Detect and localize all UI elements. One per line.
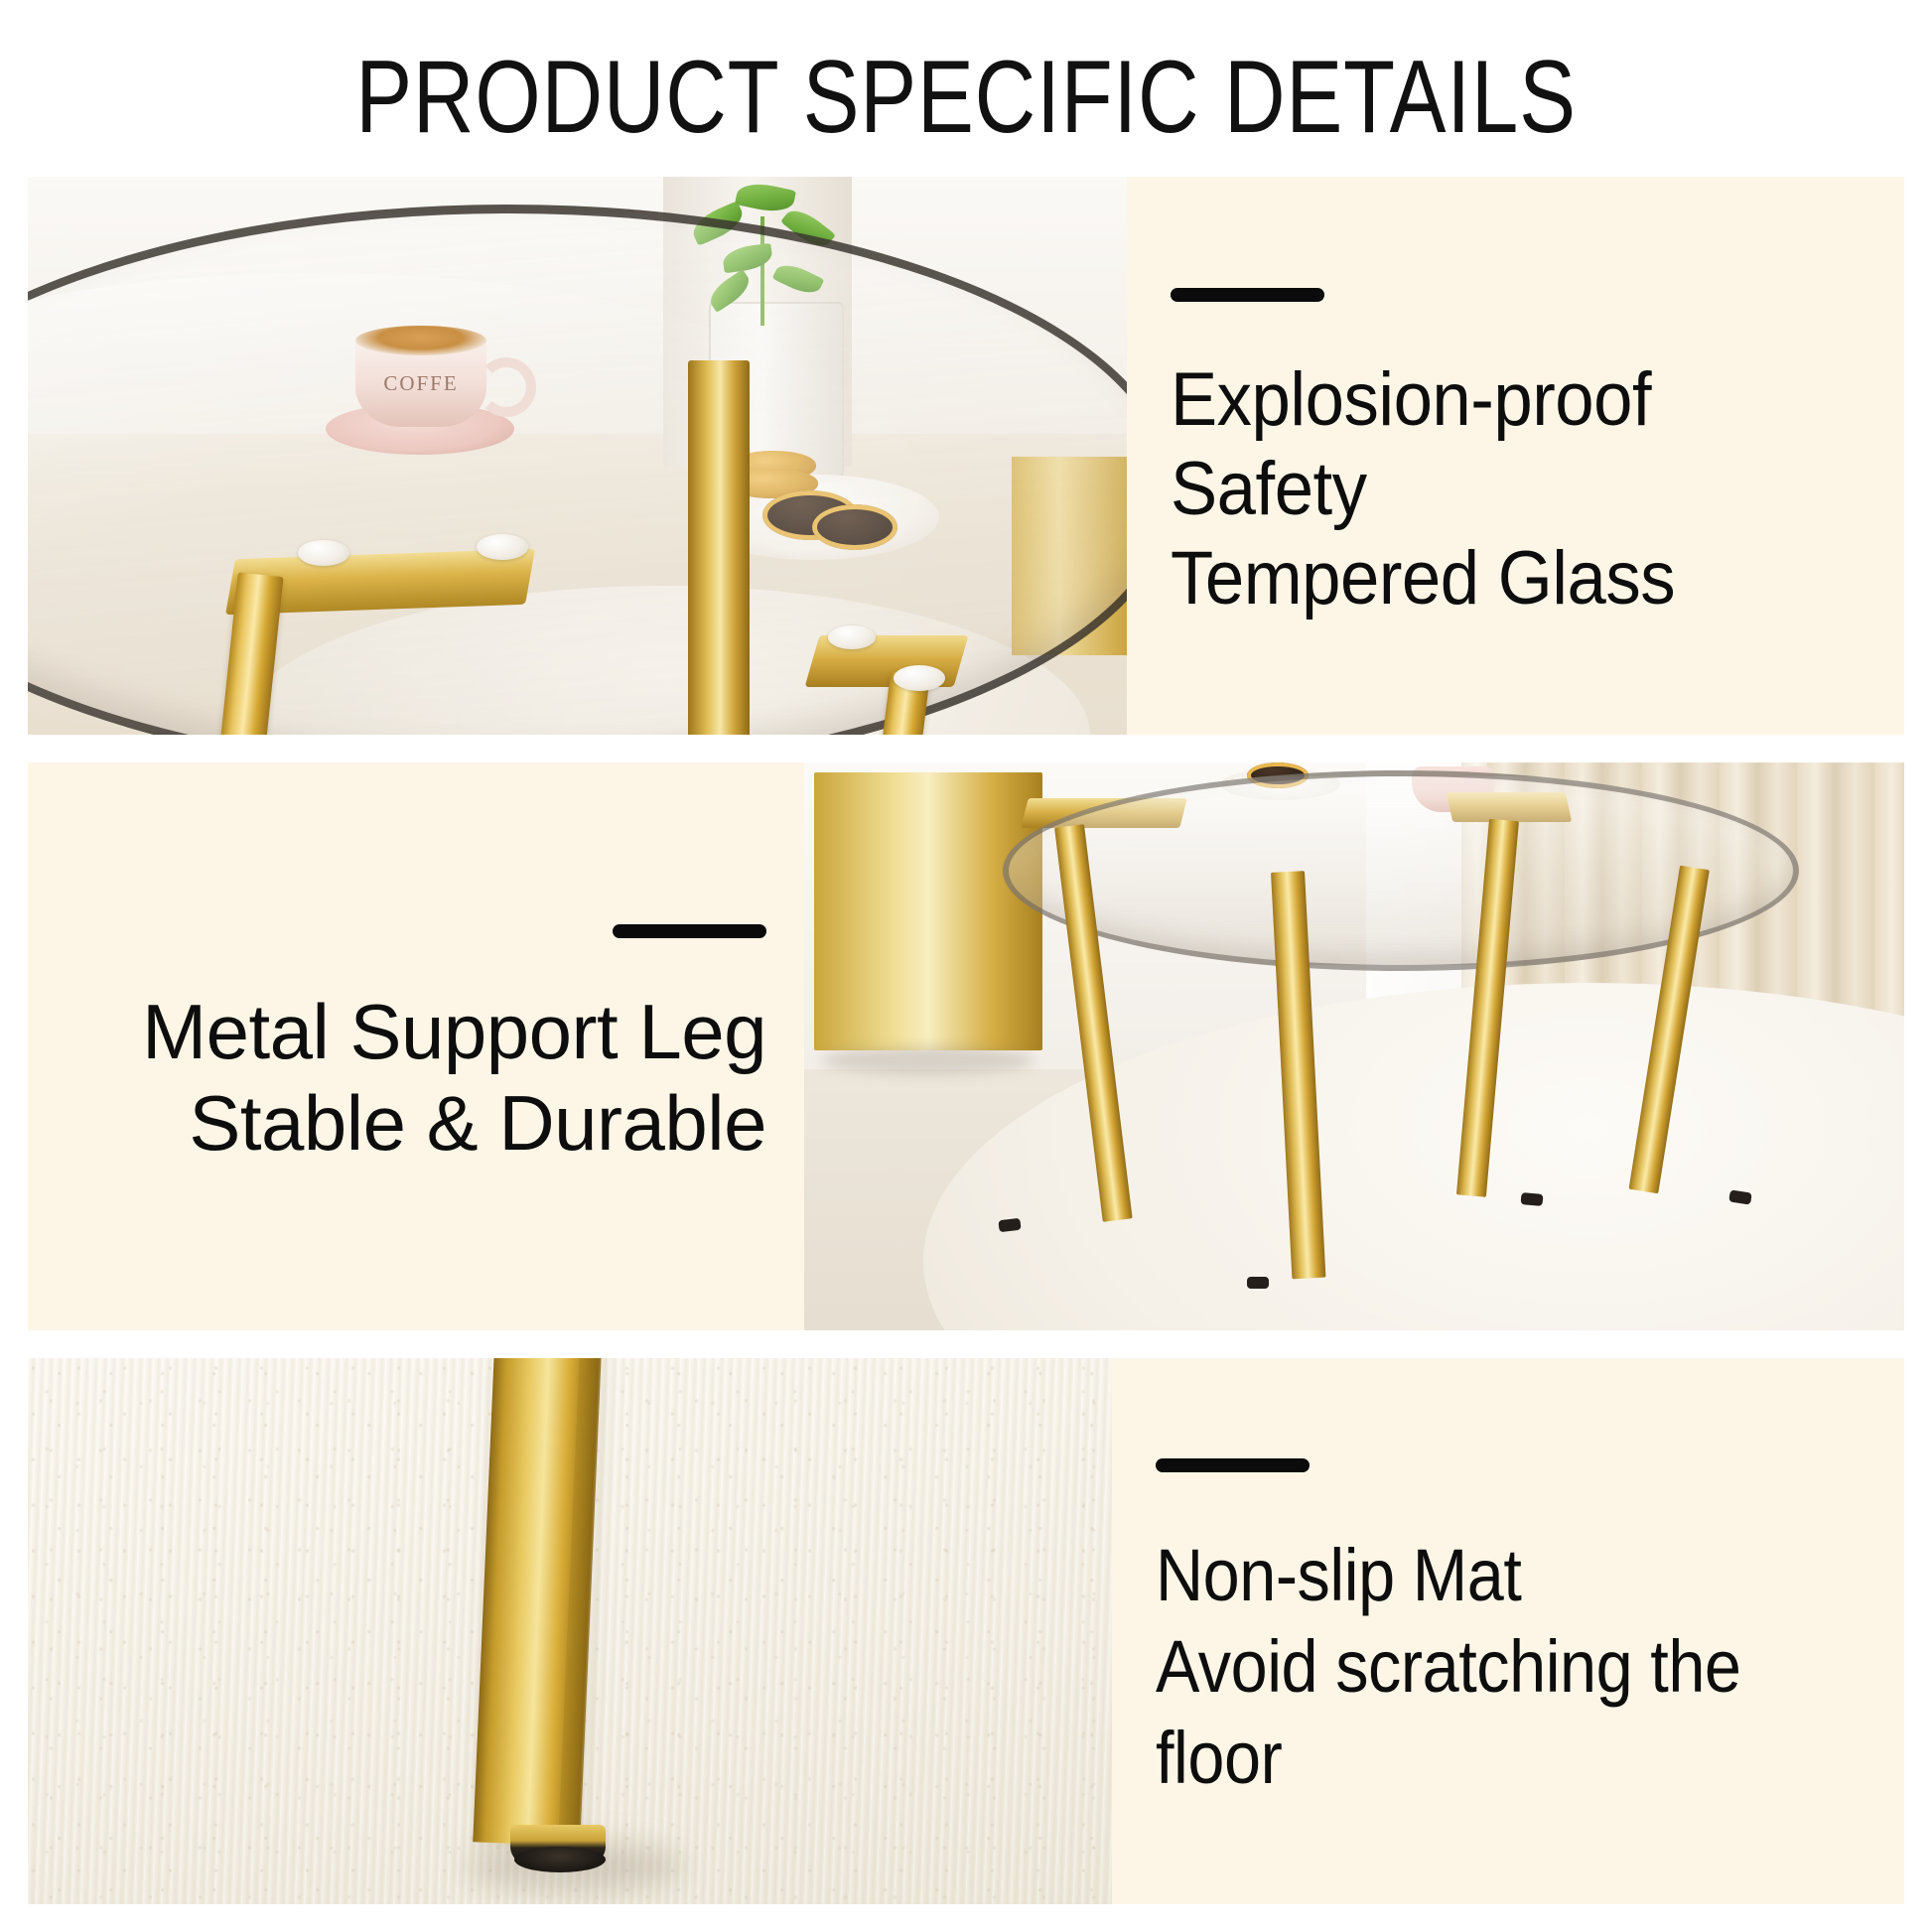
cup-label: COFFE <box>369 371 473 396</box>
coffee-surface <box>355 326 486 355</box>
non-slip-mat <box>514 1847 606 1872</box>
cabinet-shadow <box>822 1046 1035 1074</box>
glass-support-pad <box>894 665 945 691</box>
glass-support-pad <box>828 625 876 649</box>
page-title: PRODUCT SPECIFIC DETAILS <box>174 42 1758 153</box>
feature-panel-metal-leg: Metal Support Leg Stable & Durable <box>28 762 1904 1330</box>
glass-support-pad <box>477 534 528 560</box>
non-slip-foot <box>1247 1277 1269 1289</box>
caption-block-non-slip-mat: Non-slip Mat Avoid scratching the floor <box>1112 1358 1904 1904</box>
gold-cabinet <box>814 772 1042 1050</box>
non-slip-foot <box>1521 1192 1544 1206</box>
dash-rule-icon <box>1156 1458 1310 1472</box>
caption-block-tempered-glass: Explosion-proof Safety Tempered Glass <box>1127 177 1904 735</box>
gold-table-leg <box>688 360 750 735</box>
dash-rule-icon <box>1171 288 1324 302</box>
cup-handle <box>477 357 536 417</box>
photo-tempered-glass: COFFE <box>28 177 1127 735</box>
caption-text: Metal Support Leg Stable & Durable <box>142 986 766 1169</box>
feature-panel-non-slip-mat: Non-slip Mat Avoid scratching the floor <box>28 1358 1904 1904</box>
glass-support-pad <box>298 540 349 566</box>
dash-rule-icon <box>613 924 766 938</box>
feature-panel-tempered-glass: COFFE Explosion-proof Safety Tempered Gl… <box>28 177 1904 735</box>
infographic-page: PRODUCT SPECIFIC DETAILS <box>0 0 1932 1932</box>
caption-text: Non-slip Mat Avoid scratching the floor <box>1156 1530 1830 1804</box>
caption-block-metal-leg: Metal Support Leg Stable & Durable <box>28 762 804 1330</box>
caption-text: Explosion-proof Safety Tempered Glass <box>1171 355 1853 623</box>
photo-non-slip-mat <box>28 1358 1112 1904</box>
photo-metal-leg <box>804 762 1904 1330</box>
